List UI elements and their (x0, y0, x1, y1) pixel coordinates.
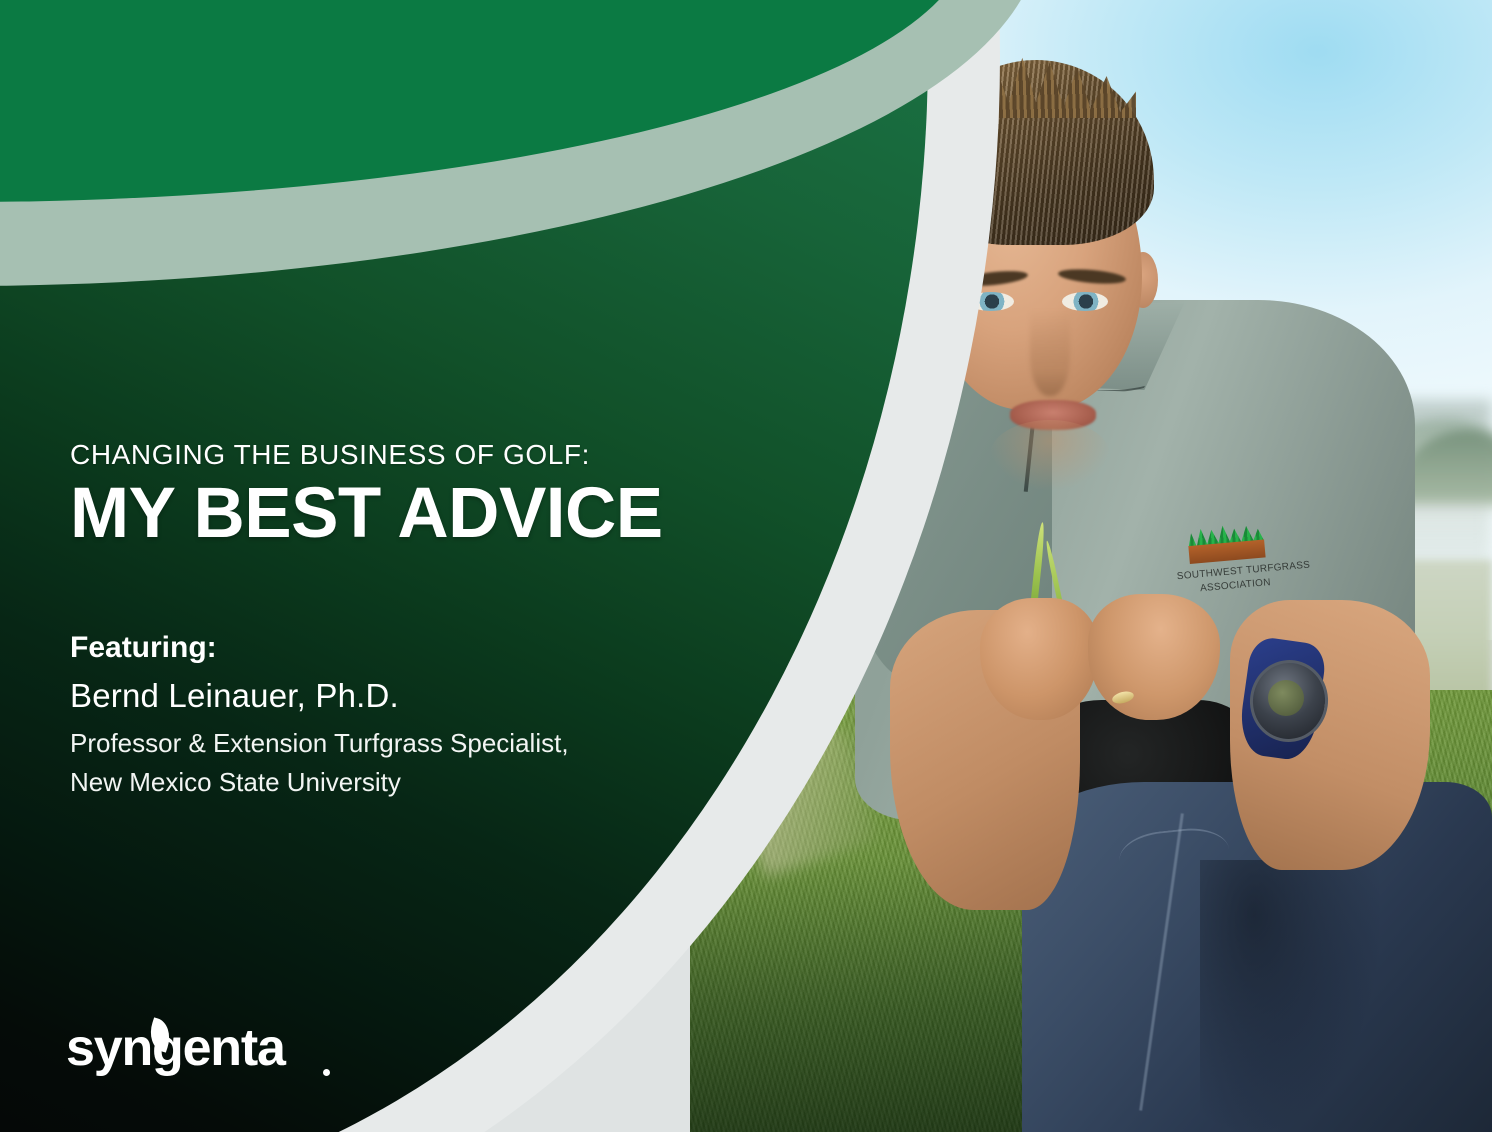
shirt-logo-line2: ASSOCIATION (1200, 577, 1272, 594)
speaker-name: Bernd Leinauer, Ph.D. (70, 677, 830, 715)
knee-shadow (1200, 860, 1380, 1132)
syngenta-wordmark: syngenta (66, 1022, 326, 1074)
nose (1030, 310, 1070, 396)
title-text-block: CHANGING THE BUSINESS OF GOLF: MY BEST A… (70, 440, 830, 800)
turfgrass-emblem-icon (1187, 520, 1266, 566)
eyebrow-text: CHANGING THE BUSINESS OF GOLF: (70, 440, 830, 471)
watch-dial (1268, 680, 1304, 716)
presentation-title-slide: SOUTHWEST TURFGRASS ASSOCIATION (0, 0, 1492, 1132)
featuring-label: Featuring: (70, 631, 830, 665)
left-hand (980, 598, 1098, 720)
page-title: MY BEST ADVICE (70, 477, 830, 552)
shirt-logo: SOUTHWEST TURFGRASS ASSOCIATION (1173, 517, 1300, 609)
right-eye (1062, 292, 1108, 311)
chin (990, 420, 1110, 490)
syngenta-logo: syngenta (66, 1022, 326, 1084)
registered-mark-icon (323, 1069, 330, 1076)
speaker-title-line1: Professor & Extension Turfgrass Speciali… (70, 725, 830, 761)
speaker-title-line2: New Mexico State University (70, 764, 830, 800)
